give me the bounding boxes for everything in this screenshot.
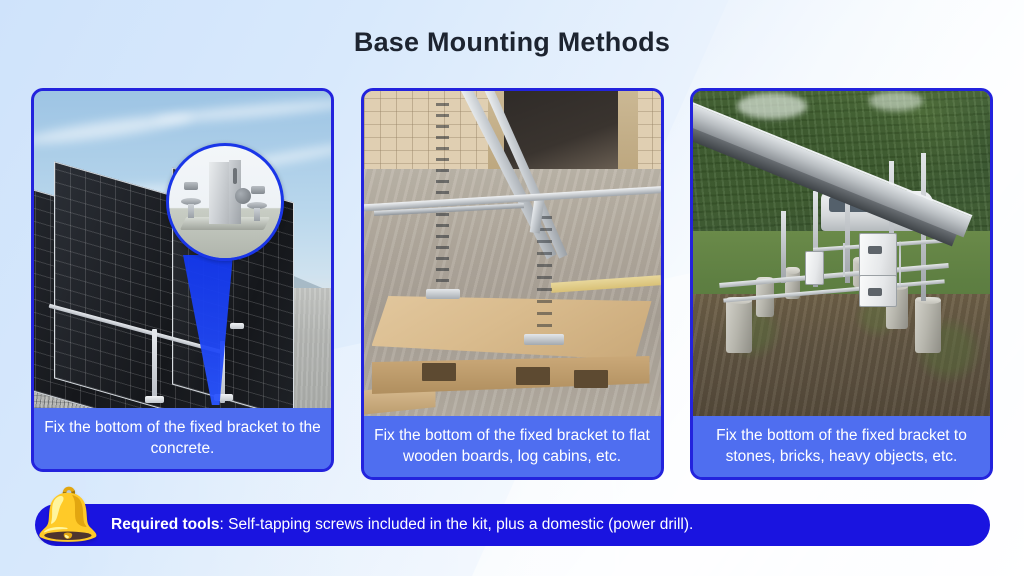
callout-nut	[184, 182, 198, 190]
card-caption: Fix the bottom of the fixed bracket to f…	[364, 416, 661, 477]
scene-concrete-rooftop	[34, 91, 331, 408]
photo-rails-on-pallet	[364, 91, 661, 416]
banner-body: Self-tapping screws included in the kit,…	[228, 516, 693, 533]
callout-bolt	[188, 204, 194, 218]
concrete-pier	[726, 297, 752, 353]
frame-post	[781, 211, 786, 283]
pallet-gap	[574, 370, 608, 388]
wall-pillar	[618, 91, 638, 171]
electrical-box	[805, 251, 824, 285]
required-tools-label: Required tools	[111, 516, 220, 533]
magnifier-callout	[166, 143, 284, 261]
support-leg	[152, 329, 157, 401]
card-caption: Fix the bottom of the fixed bracket to s…	[693, 416, 990, 477]
bell-icon: 🔔	[35, 482, 101, 548]
sky-gap	[869, 91, 923, 111]
scene-pallet-yard	[364, 91, 661, 416]
method-card-concrete[interactable]: Fix the bottom of the fixed bracket to t…	[31, 88, 334, 472]
slide-root: Base Mounting Methods	[0, 0, 1024, 576]
bracket-foot	[230, 323, 244, 329]
callout-disc	[235, 188, 251, 204]
callout-nut	[251, 186, 265, 194]
pallet-front-face	[372, 356, 650, 394]
photo-ground-mount-piers	[693, 91, 990, 416]
concrete-pier	[915, 297, 941, 353]
combiner-box	[859, 275, 897, 307]
pallet-deck	[372, 296, 652, 360]
inverter-box	[859, 233, 897, 277]
bracket-foot	[524, 334, 564, 345]
pallet-gap	[422, 363, 456, 381]
cloud-shape	[154, 96, 331, 125]
page-title: Base Mounting Methods	[0, 27, 1024, 58]
wooden-pallet	[366, 296, 658, 394]
bracket-foot	[145, 396, 164, 403]
photo-solar-array-on-concrete	[34, 91, 331, 408]
scene-outdoor-field	[693, 91, 990, 416]
card-caption: Fix the bottom of the fixed bracket to t…	[34, 408, 331, 469]
conduit-wire	[843, 243, 845, 277]
callout-bolt	[254, 208, 260, 221]
method-card-stones-bricks[interactable]: Fix the bottom of the fixed bracket to s…	[690, 88, 993, 480]
bracket-foot	[426, 289, 460, 299]
pallet-gap	[516, 367, 550, 385]
conduit-wire	[899, 241, 901, 287]
sky-gap	[737, 93, 807, 119]
method-card-wooden-boards[interactable]: Fix the bottom of the fixed bracket to f…	[361, 88, 664, 480]
perforated-upright	[436, 97, 449, 293]
required-tools-banner: 🔔 Required tools: Self-tapping screws in…	[35, 504, 990, 546]
cards-row: Fix the bottom of the fixed bracket to t…	[31, 88, 993, 480]
required-tools-text: Required tools: Self-tapping screws incl…	[111, 516, 693, 534]
callout-slot	[233, 168, 237, 184]
banner-separator: :	[220, 516, 229, 533]
